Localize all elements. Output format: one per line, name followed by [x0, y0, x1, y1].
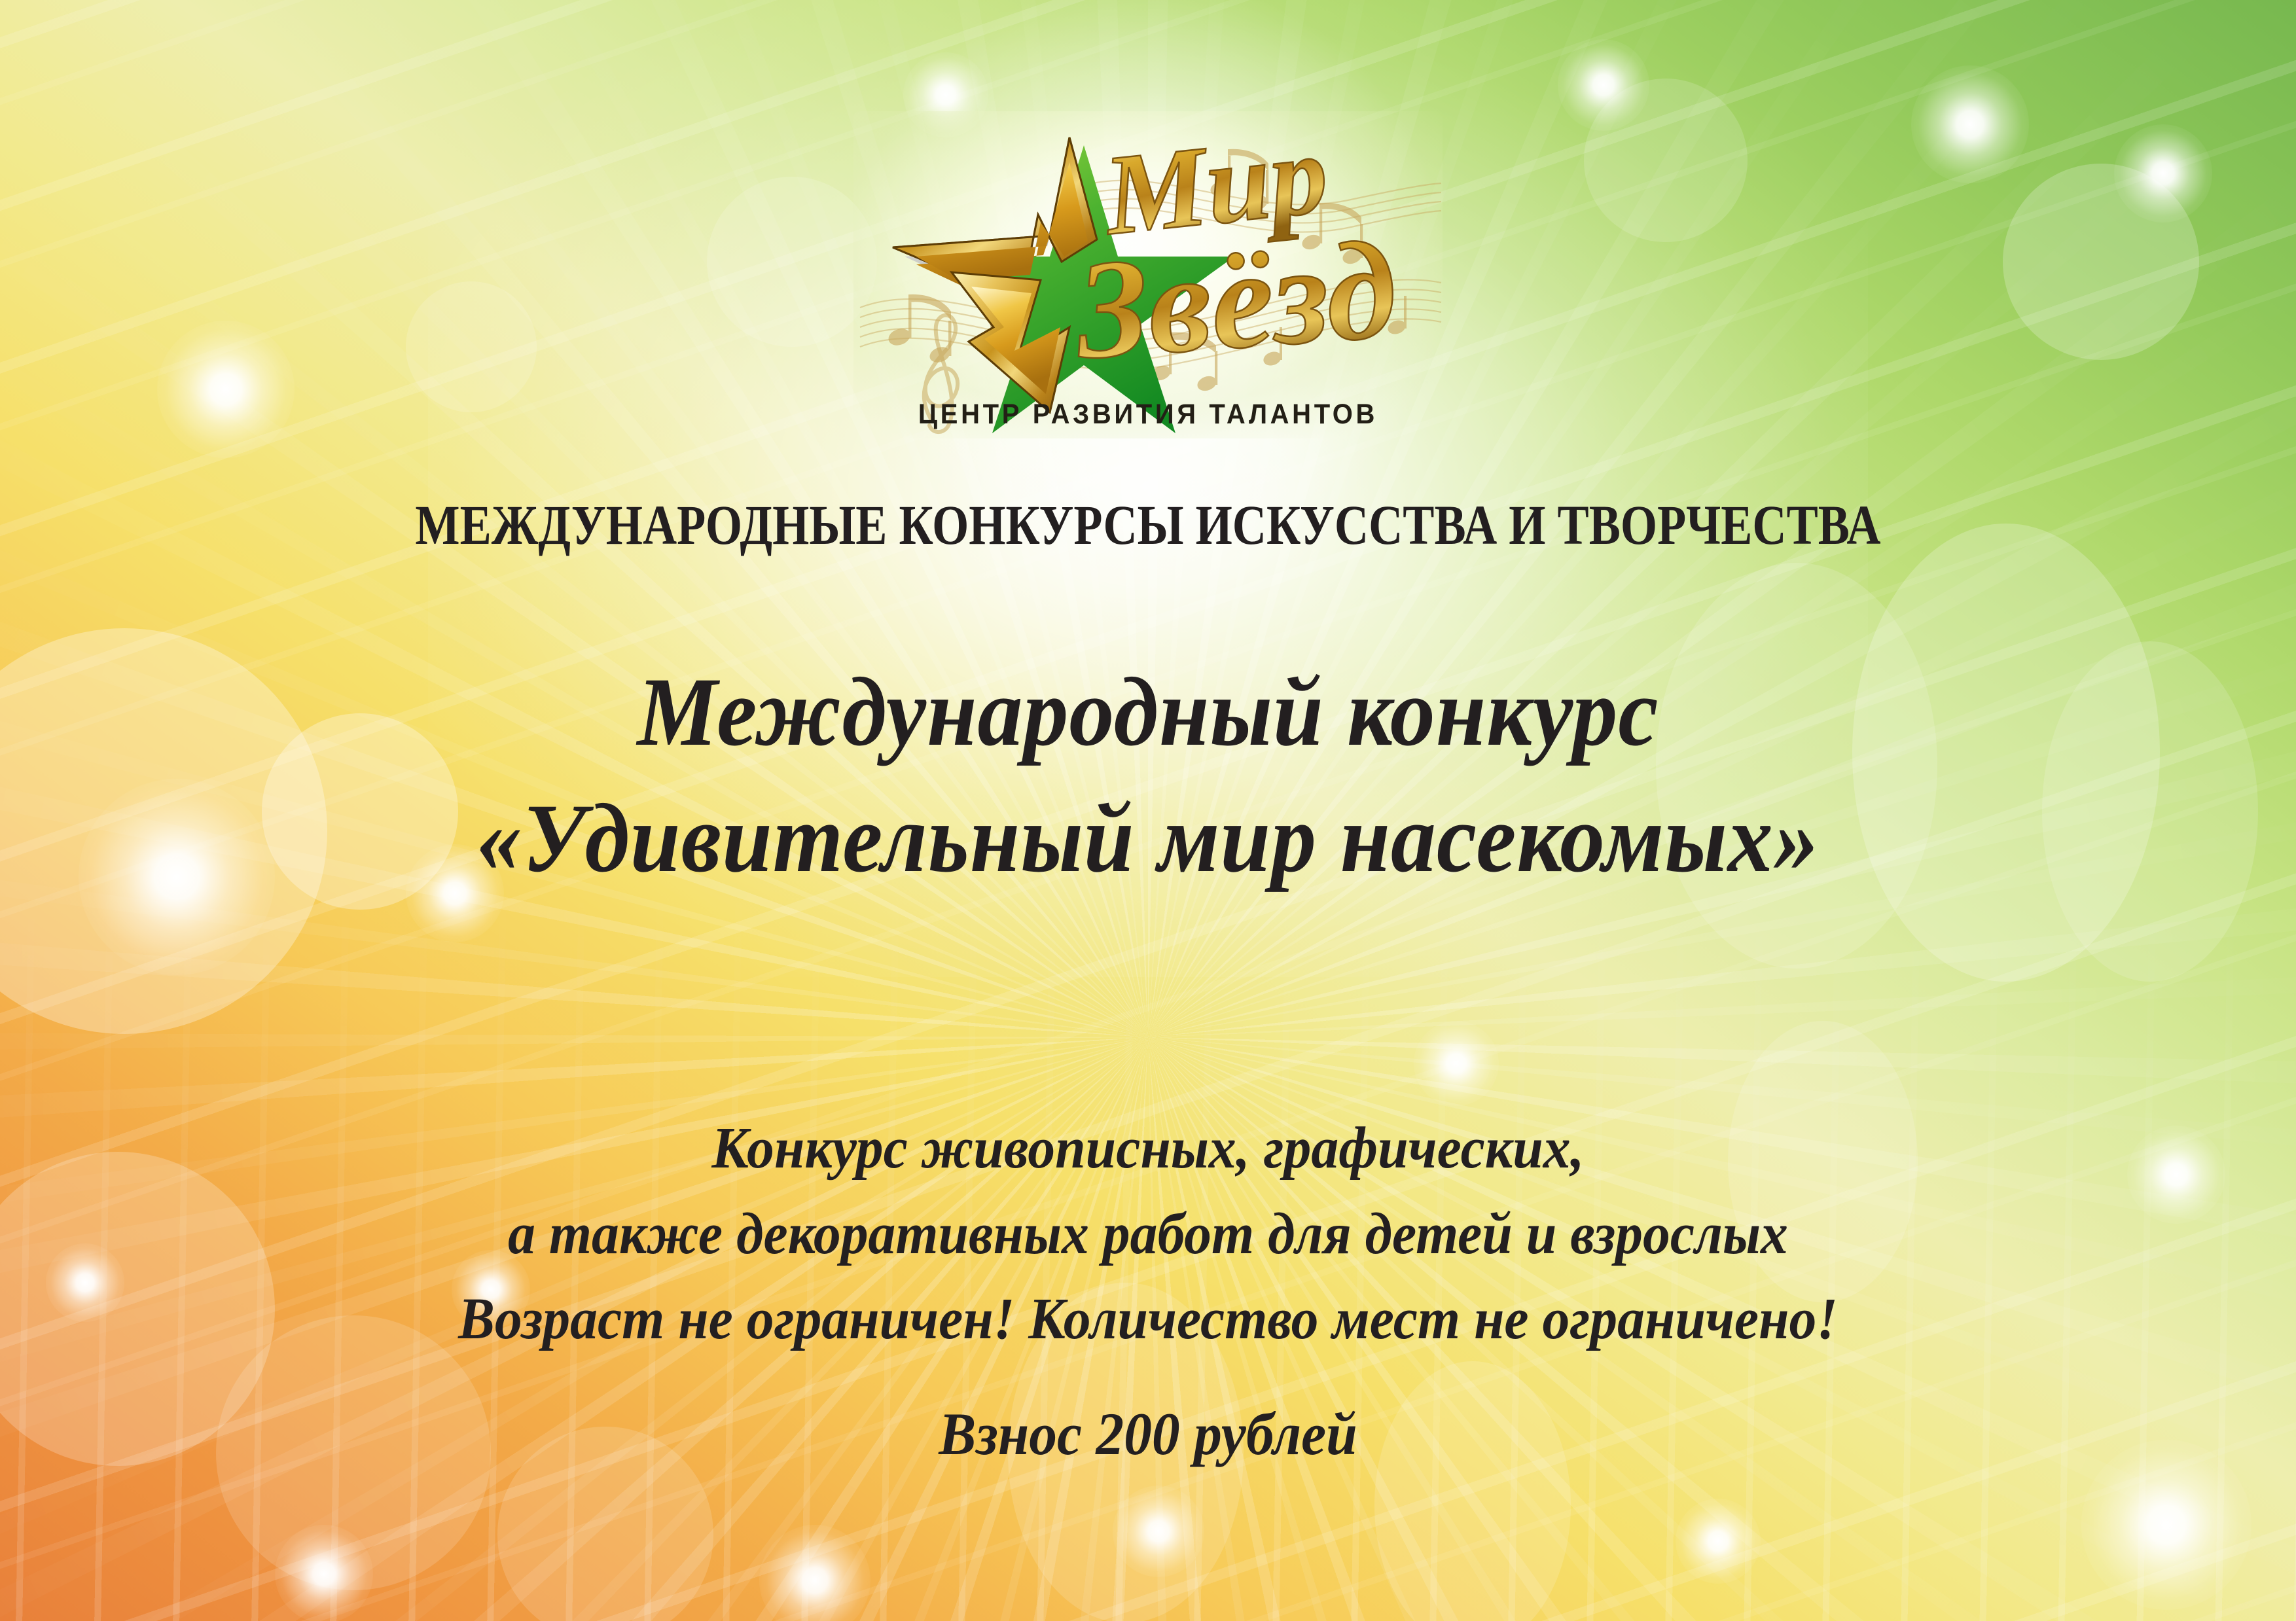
title-line-1: Международный конкурс — [92, 662, 2204, 762]
title-line-2: «Удивительный мир насекомых» — [92, 789, 2204, 889]
poster-canvas: Мир Звёзд ЦЕНТР РАЗВИТИЯ ТАЛАНТОВ МЕЖДУН… — [0, 0, 2296, 1621]
body-block: Конкурс живописных, графических, а также… — [0, 1106, 2296, 1363]
title-block: Международный конкурс «Удивительный мир … — [0, 662, 2296, 889]
body-line-2: а также декоративных работ для детей и в… — [81, 1192, 2215, 1277]
logo-artwork: Мир Звёзд — [853, 111, 1443, 438]
eyebrow-heading: МЕЖДУНАРОДНЫЕ КОНКУРСЫ ИСКУССТВА И ТВОРЧ… — [184, 492, 2113, 558]
organization-logo: Мир Звёзд ЦЕНТР РАЗВИТИЯ ТАЛАНТОВ — [853, 111, 1443, 438]
body-line-1: Конкурс живописных, графических, — [81, 1106, 2215, 1192]
body-line-3: Возраст не ограничен! Количество мест не… — [81, 1277, 2215, 1363]
logo-tagline: ЦЕНТР РАЗВИТИЯ ТАЛАНТОВ — [874, 399, 1422, 431]
entry-fee-text: Взнос 200 рублей — [81, 1399, 2215, 1469]
logo-script-bottom: Звёзд — [1069, 210, 1401, 389]
